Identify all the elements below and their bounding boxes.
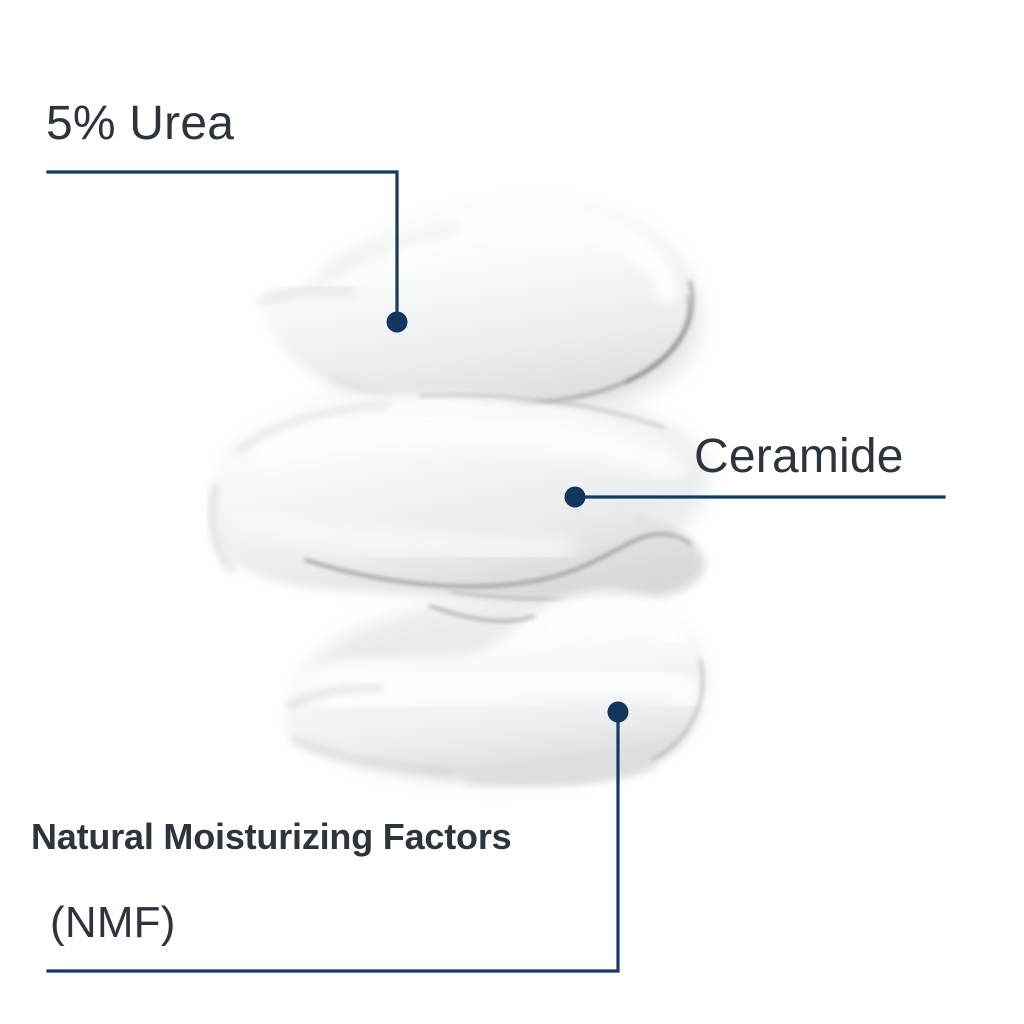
leader-line-urea: [48, 172, 408, 333]
callout-label-urea: 5% Urea: [46, 96, 234, 151]
ingredient-callout-diagram: 5% Urea Ceramide Natural Moisturizing Fa…: [0, 0, 1024, 1024]
callout-dot-nmf[interactable]: [608, 702, 629, 723]
callout-label-nmf-title: Natural Moisturizing Factors: [31, 816, 511, 858]
callout-label-ceramide: Ceramide: [694, 429, 904, 484]
leader-line-ceramide: [565, 487, 945, 508]
callout-label-nmf-abbreviation: (NMF): [50, 898, 176, 948]
callout-dot-urea[interactable]: [387, 312, 408, 333]
callout-dot-ceramide[interactable]: [565, 487, 586, 508]
callout-leader-lines: [0, 0, 1024, 1024]
